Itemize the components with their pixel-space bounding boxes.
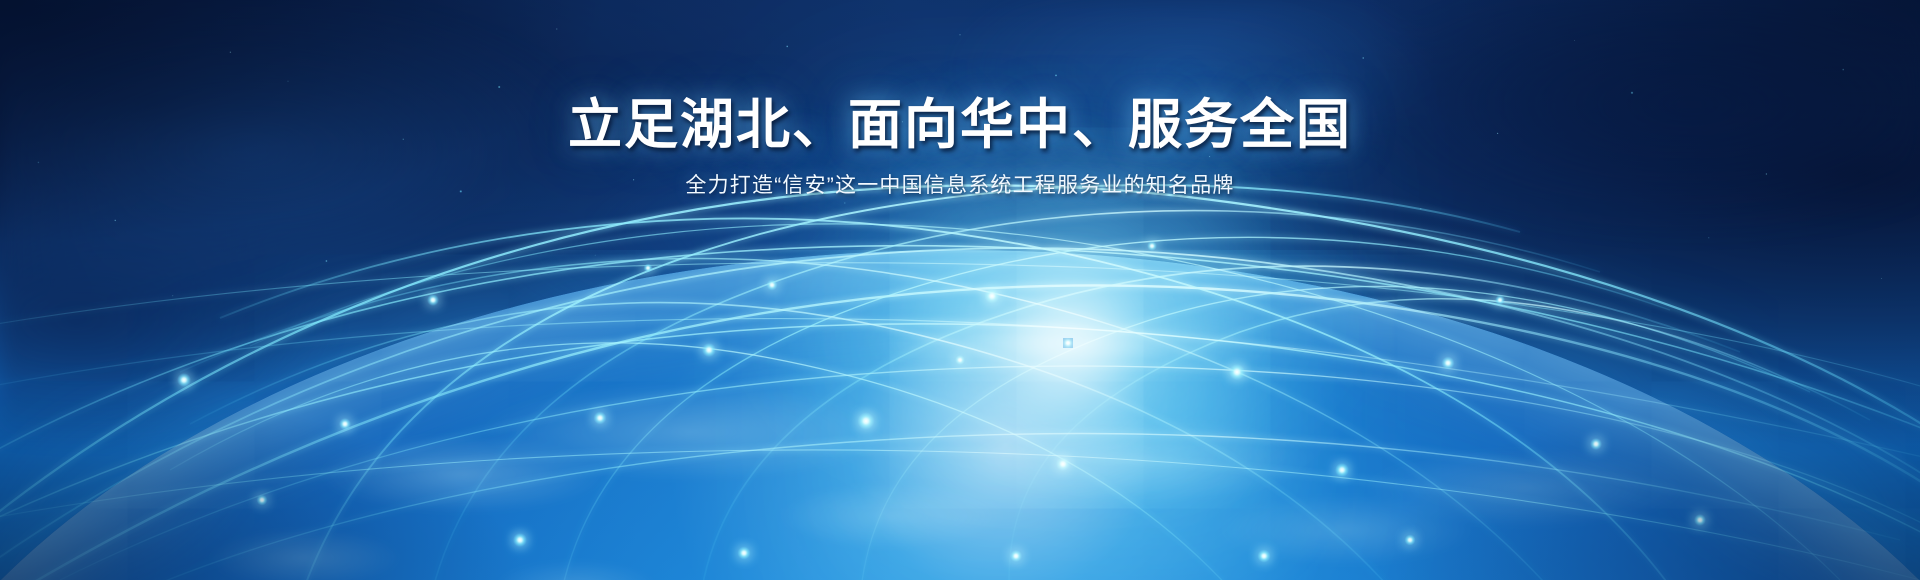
banner-subheadline: 全力打造“信安”这一中国信息系统工程服务业的知名品牌 — [0, 172, 1920, 199]
banner-headline: 立足湖北、面向华中、服务全国 — [0, 96, 1920, 154]
hero-banner: 立足湖北、面向华中、服务全国 全力打造“信安”这一中国信息系统工程服务业的知名品… — [0, 0, 1920, 580]
banner-copy: 立足湖北、面向华中、服务全国 全力打造“信安”这一中国信息系统工程服务业的知名品… — [0, 96, 1920, 200]
central-light-burst — [1063, 338, 1073, 348]
